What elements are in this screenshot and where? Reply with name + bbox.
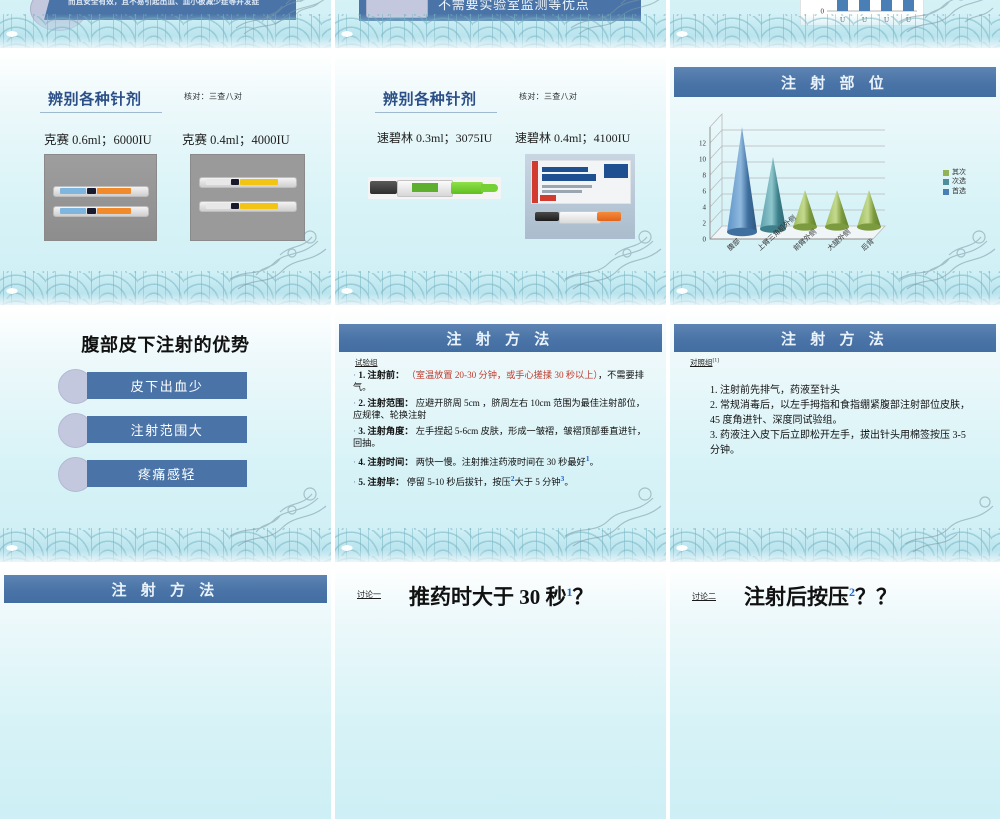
slide-thumbnail-r2c1[interactable]: 辨别各种针剂 核对：三查八对 克赛 0.6ml；6000IU 克赛 0.4ml；… — [0, 53, 331, 305]
slide-title-r2c1: 辨别各种针剂 — [48, 88, 142, 109]
note-label: 核对： — [184, 92, 209, 101]
step-rest: 两快一慢。注射推注药液时间在 30 秒最好 — [416, 457, 586, 467]
bullet-row-2[interactable]: 疼痛感轻 — [58, 457, 248, 490]
step-5: · 5. 注射毕： 停留 5-10 秒后拔针，按压2大于 5 分钟3。 — [353, 474, 651, 489]
wave-border-r3c1 — [0, 528, 331, 562]
step-tail: 。 — [590, 457, 599, 467]
step-3: · 3. 注射角度： 左手捏起 5-6cm 皮肤，形成一皱褶，皱褶顶部垂直进针，… — [353, 426, 651, 449]
legend-label: 首选 — [952, 187, 966, 196]
box-photo-r2c2 — [525, 154, 635, 239]
note-value: 三查八对 — [544, 92, 577, 101]
step-label: 注射角度： — [368, 426, 414, 436]
step-number: 5. — [358, 477, 365, 487]
chart-ytick: 8 — [703, 172, 707, 180]
legend-swatch-icon — [943, 170, 949, 176]
step-label: 注射毕： — [368, 477, 405, 487]
chart-y-ticks: 024681012 — [699, 140, 707, 244]
legend-label: 次选 — [952, 177, 966, 186]
group-footnote: [1] — [713, 358, 719, 364]
wave-border-r2c2 — [335, 271, 666, 305]
legend-item-2: 首选 — [943, 187, 966, 196]
slide-thumbnail-r1c1[interactable]: 而且安全有效，且不易引起出血、血小板减少症等并发症 — [0, 0, 331, 48]
line-3: 3. 药液注入皮下后立即松开左手，拔出针头用棉签按压 3-5 分钟。 — [710, 429, 972, 458]
banner-text-r1c1: 而且安全有效，且不易引起出血、血小板减少症等并发症 — [68, 0, 296, 7]
bullet-label: 皮下出血少 — [131, 376, 204, 395]
slide-header-r4c1: 注 射 方 法 — [4, 575, 327, 603]
discussion-tag-r4c2: 讨论一 — [357, 589, 381, 600]
group-label-r3c2: 试验组 — [355, 357, 378, 368]
line-1: 1. 注射前先排气，药液至针头 — [710, 384, 970, 399]
legend-swatch-icon — [943, 179, 949, 185]
step-tail: 。 — [564, 477, 573, 487]
step-label: 注射时间： — [368, 457, 414, 467]
injection-site-chart: 024681012 腹部上臂三角肌外侧前臂外侧大腿外侧后背 — [680, 111, 930, 281]
slide-thumbnail-r4c2[interactable]: 讨论一 推药时大于 30 秒1？ — [335, 567, 666, 819]
spec-text-2-r2c2: 速碧林 0.4ml；4100IU — [515, 129, 630, 146]
slide-thumbnail-r2c2[interactable]: 辨别各种针剂 核对：三查八对 速碧林 0.3ml；3075IU 速碧林 0.4m… — [335, 53, 666, 305]
spec-text-1-r2c2: 速碧林 0.3ml；3075IU — [377, 129, 492, 146]
mini-xtick: U — [840, 16, 845, 24]
step-number: 2. — [358, 398, 365, 408]
wave-border-r2c1 — [0, 271, 331, 305]
line-2: 2. 常规消毒后，以左手拇指和食指绷紧腹部注射部位皮肤， 45 度角进针、深度同… — [710, 399, 972, 428]
chart-legend: 其次 次选 首选 — [943, 168, 966, 196]
bullet-label: 疼痛感轻 — [138, 464, 196, 483]
slide-header-r3c2: 注 射 方 法 — [339, 324, 662, 352]
step-number: 1. — [358, 370, 365, 380]
syringe-photo-green-r2c2 — [368, 177, 501, 199]
slide-thumbnail-r1c3[interactable]: 1000 0 U U U U — [670, 0, 1000, 48]
title-rule-r2c2 — [375, 112, 497, 113]
spec-text-1-r2c1: 克赛 0.6ml；6000IU — [44, 129, 152, 148]
mini-xtick: U — [884, 16, 889, 24]
step-rest2: 大于 5 分钟 — [515, 477, 561, 487]
mini-bar-chart: 1000 0 U U U U — [800, 0, 924, 26]
chart-ytick: 6 — [703, 188, 707, 196]
note-r2c2: 核对：三查八对 — [519, 91, 577, 102]
bullet-row-0[interactable]: 皮下出血少 — [58, 369, 248, 402]
slide-title-r3c1: 腹部皮下注射的优势 — [0, 331, 331, 357]
chart-ytick: 4 — [703, 204, 707, 212]
bullet-bar: 疼痛感轻 — [87, 460, 247, 487]
group-label-text: 对照组 — [690, 358, 713, 367]
slide-thumbnail-r1c2[interactable]: 不需要实验室监测等优点 — [335, 0, 666, 48]
step-label: 注射前： — [368, 370, 405, 380]
chart-cone-1 — [727, 127, 757, 236]
mini-xtick: U — [862, 16, 867, 24]
bullet-bar: 注射范围大 — [87, 416, 247, 443]
step-rest: 停留 5-10 秒后拔针，按压 — [407, 477, 511, 487]
mini-ytick-zero: 0 — [821, 8, 825, 16]
headline-text: 注射后按压 — [744, 585, 849, 609]
legend-swatch-icon — [943, 189, 949, 195]
slide-thumbnail-r4c1[interactable]: 注 射 方 法 — [0, 567, 331, 819]
chart-cone-2 — [760, 157, 786, 233]
slide-thumbnail-r3c2[interactable]: 注 射 方 法 试验组 · 1. 注射前： （室温放置 20-30 分钟，或手心… — [335, 310, 666, 562]
chart-ytick: 12 — [699, 140, 707, 148]
title-rule-r2c1 — [40, 112, 162, 113]
headline-tail: ？？ — [855, 585, 897, 609]
group-label-r3c3: 对照组[1] — [690, 357, 719, 368]
banner-text-r1c2: 不需要实验室监测等优点 — [438, 0, 590, 13]
chart-ytick: 0 — [703, 236, 707, 244]
step-label: 注射范围： — [368, 398, 414, 408]
step-red: （室温放置 20-30 分钟，或手心搓揉 30 秒以上） — [407, 370, 598, 380]
slide-thumbnail-r3c3[interactable]: 注 射 方 法 对照组[1] 1. 注射前先排气，药液至针头 2. 常规消毒后，… — [670, 310, 1000, 562]
slide-thumbnail-r2c3[interactable]: 注 射 部 位 — [670, 53, 1000, 305]
chart-ytick: 10 — [699, 156, 707, 164]
slide-thumbnail-grid: 而且安全有效，且不易引起出血、血小板减少症等并发症 不需要实验室监测等优点 — [0, 0, 1000, 600]
note-r2c1: 核对：三查八对 — [184, 91, 242, 102]
legend-item-1: 次选 — [943, 177, 966, 186]
mini-chart-svg: 1000 0 U U U U — [801, 0, 923, 25]
headline-text: 推药时大于 30 秒 — [409, 585, 567, 609]
step-number: 4. — [358, 457, 365, 467]
wave-border-r3c2 — [335, 528, 666, 562]
step-number: 3. — [358, 426, 365, 436]
mini-xtick: U — [906, 16, 911, 24]
wave-border-r3c3 — [670, 528, 1000, 562]
bullet-bar: 皮下出血少 — [87, 372, 247, 399]
chart-ytick: 2 — [703, 220, 707, 228]
syringe-photo-1-r2c1 — [44, 154, 157, 241]
slide-header-r3c3: 注 射 方 法 — [674, 324, 996, 352]
slide-thumbnail-r4c3[interactable]: 讨论二 注射后按压2？？ — [670, 567, 1000, 819]
headline-tail: ？ — [573, 585, 594, 609]
slide-title-r2c2: 辨别各种针剂 — [383, 88, 477, 109]
discussion-headline-r4c2: 推药时大于 30 秒1？ — [409, 581, 594, 611]
note-label: 核对： — [519, 92, 544, 101]
discussion-tag-r4c3: 讨论二 — [692, 591, 716, 602]
spec-text-2-r2c1: 克赛 0.4ml；4000IU — [182, 129, 290, 148]
note-value: 三查八对 — [209, 92, 242, 101]
step-1: · 1. 注射前： （室温放置 20-30 分钟，或手心搓揉 30 秒以上），不… — [353, 370, 651, 393]
dragon-ornament-r3c3 — [895, 472, 1000, 558]
step-4: · 4. 注射时间： 两快一慢。注射推注药液时间在 30 秒最好1。 — [353, 454, 651, 469]
banner-chip-r1c2 — [366, 0, 428, 18]
step-2: · 2. 注射范围： 应避开脐周 5cm ，脐周左右 10cm 范围为最佳注射部… — [353, 398, 651, 421]
syringe-photo-2-r2c1 — [190, 154, 305, 241]
slide-thumbnail-r3c1[interactable]: 腹部皮下注射的优势 皮下出血少 注射范围大 疼痛感轻 — [0, 310, 331, 562]
slide-header-r2c3: 注 射 部 位 — [674, 67, 996, 97]
bullet-label: 注射范围大 — [131, 420, 204, 439]
discussion-headline-r4c3: 注射后按压2？？ — [744, 581, 897, 611]
bullet-row-1[interactable]: 注射范围大 — [58, 413, 248, 446]
